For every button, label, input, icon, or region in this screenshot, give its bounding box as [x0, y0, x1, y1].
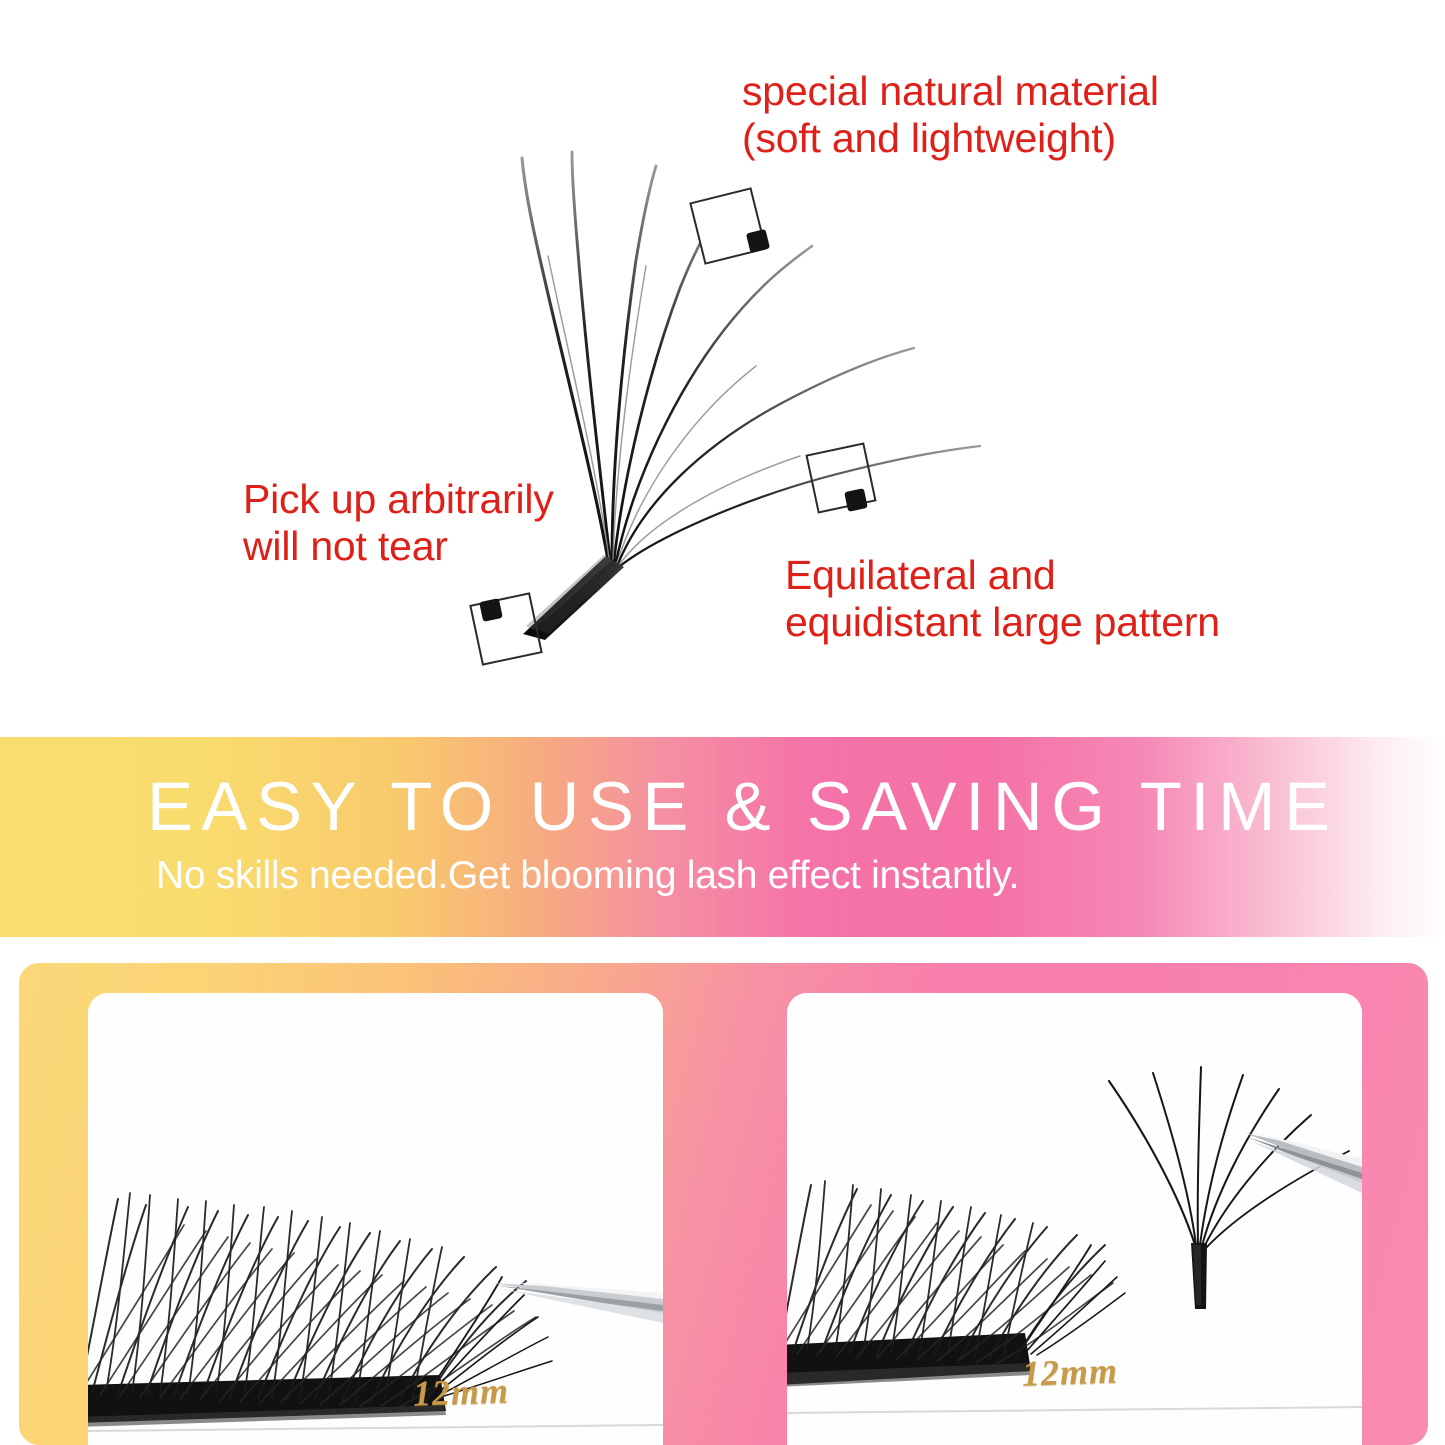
- photo-card-lash-tray: 12mm: [88, 993, 663, 1445]
- callout-equilateral-equidistant: Equilateral and equidistant large patter…: [785, 552, 1220, 645]
- callout-special-natural-material: special natural material (soft and light…: [742, 68, 1159, 161]
- marker-square-top-right: [690, 188, 770, 263]
- callout-pick-up-arbitrarily: Pick up arbitrarily will not tear: [243, 476, 554, 569]
- photo-caption-12mm-right: 12mm: [1021, 1349, 1118, 1394]
- photo-card-lash-fan-pickup: 12mm: [787, 993, 1362, 1445]
- photo-caption-12mm-left: 12mm: [412, 1369, 509, 1414]
- marker-square-mid-right: [807, 444, 876, 513]
- lash-fan-diagram: [0, 0, 1445, 737]
- banner-title: EASY TO USE & SAVING TIME: [147, 772, 1307, 841]
- hero-section: special natural material (soft and light…: [0, 0, 1445, 737]
- photo-gallery-panel: 12mm: [19, 963, 1428, 1445]
- lash-tray-photo: [88, 993, 663, 1445]
- banner-subtitle: No skills needed.Get blooming lash effec…: [156, 856, 1019, 895]
